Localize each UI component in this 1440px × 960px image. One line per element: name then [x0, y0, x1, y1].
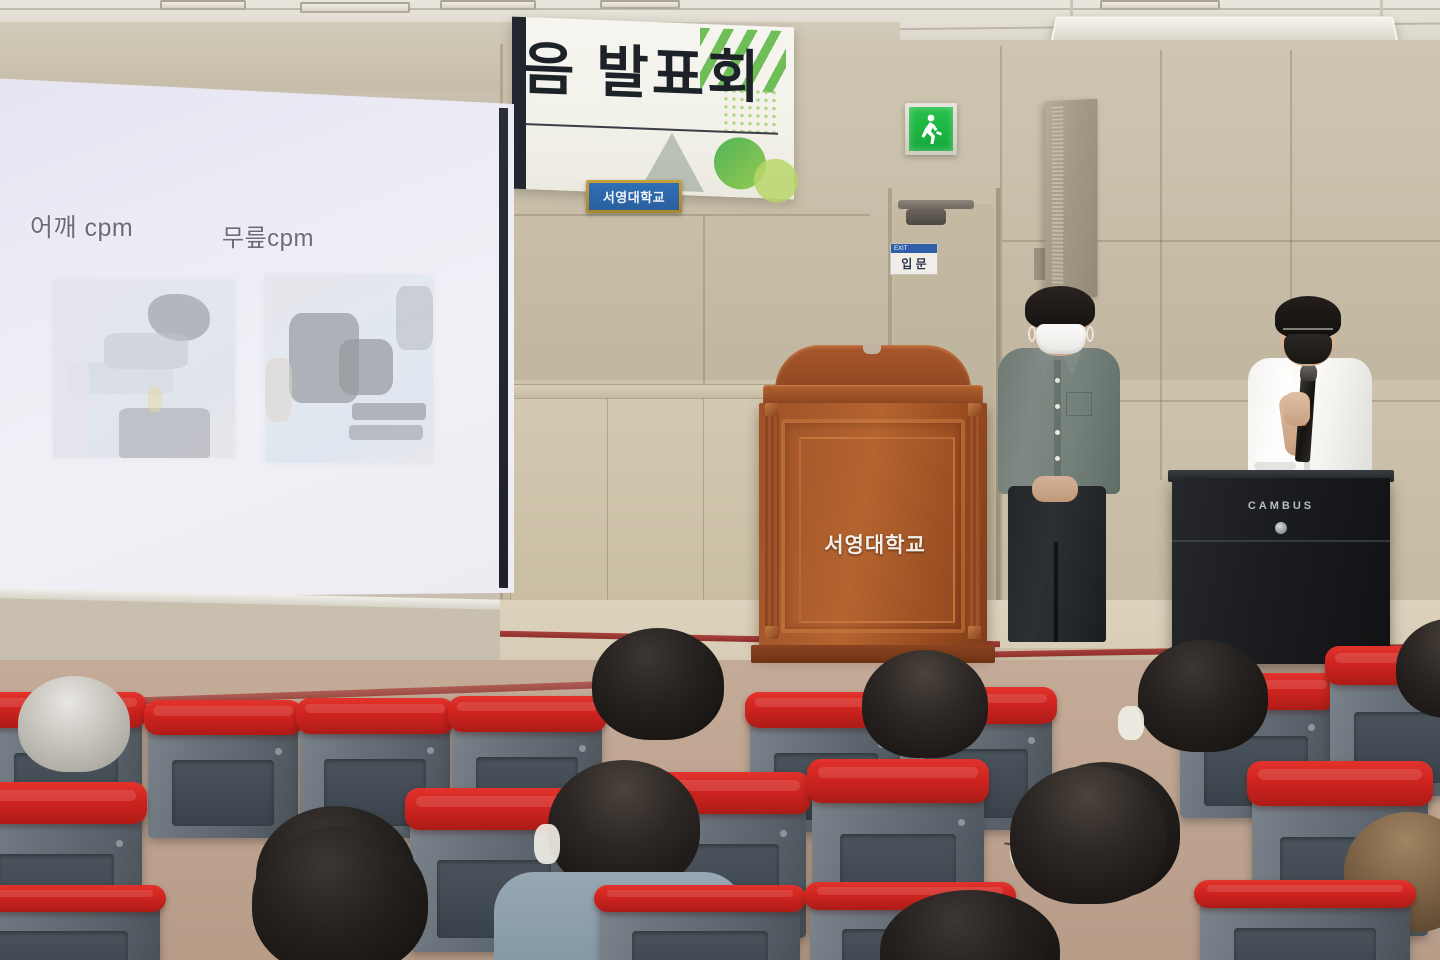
entrance-door-sign: EXIT 입 문 — [890, 243, 938, 275]
podium-rosette — [968, 403, 981, 416]
wall-seam — [703, 215, 705, 385]
wall-university-sign: 서영대학교 — [586, 180, 682, 213]
audience-face-mask — [1118, 706, 1144, 740]
seat-fixing-pin — [780, 830, 787, 837]
seat[interactable] — [148, 720, 298, 838]
seat-headrest — [0, 885, 166, 912]
ceiling-vent — [160, 0, 246, 10]
podium-rosette — [765, 403, 778, 416]
seat-fixing-pin — [579, 745, 586, 752]
speaker-grille — [1052, 106, 1063, 289]
av-rack-door-seam — [1172, 540, 1390, 542]
audience-head — [862, 650, 988, 758]
presenter-left-leg-split — [1054, 542, 1058, 642]
seat[interactable] — [1200, 896, 1410, 960]
presenter-left-shirt-button — [1055, 404, 1060, 409]
entrance-sign-bottom-label: 입 문 — [891, 253, 937, 274]
audience-head — [18, 676, 130, 772]
wall-university-sign-text: 서영대학교 — [603, 187, 665, 206]
seat-headrest — [144, 700, 303, 735]
podium-pilaster-left — [765, 415, 779, 637]
slide-image-knee-cpm — [265, 275, 433, 463]
av-rack-brand-label: CAMBUS — [1172, 500, 1390, 512]
wainscot-slat — [703, 399, 704, 622]
seat-headrest — [1194, 880, 1417, 908]
seat-fixing-pin — [1308, 724, 1315, 731]
presenter-left-mask-earloop — [1086, 326, 1094, 342]
presenter-left-face-mask — [1036, 324, 1086, 354]
presenter-left-shirt-button — [1055, 456, 1060, 461]
slide-heading-right: 무릎cpm — [222, 218, 314, 253]
emergency-exit-sign — [905, 103, 957, 155]
slide-heading-left: 어깨 cpm — [30, 208, 133, 244]
presenter-left — [994, 286, 1122, 646]
presenter-right-face-mask — [1284, 334, 1332, 364]
projection-screen-surface: 어깨 cpm 무릎cpm — [0, 78, 514, 598]
seat-fixing-pin — [1028, 737, 1035, 744]
seat-back-inset — [632, 931, 768, 960]
ceiling-vent — [600, 0, 680, 9]
exit-sign-face — [909, 107, 953, 151]
panel-hanger-rod — [1070, 0, 1073, 18]
seat-back-inset — [172, 760, 274, 826]
presenter-left-shirt-button — [1055, 430, 1060, 435]
audience-face-mask — [534, 824, 560, 864]
ceiling-vent — [440, 0, 536, 10]
audience-head — [1010, 766, 1166, 904]
seat-fixing-pin — [275, 748, 282, 755]
podium-top-notch — [863, 345, 881, 354]
projection-screen-side-border — [499, 108, 508, 588]
door-closer — [898, 200, 974, 209]
banner-green-circle-small — [754, 158, 798, 204]
audience-head — [1138, 640, 1268, 752]
seat-headrest — [1247, 761, 1434, 806]
podium-raised-panel — [781, 419, 965, 633]
seat[interactable] — [600, 900, 800, 960]
running-person-exit-icon — [918, 113, 944, 145]
presenter-right-hand — [1284, 392, 1310, 426]
seat-fixing-pin — [116, 840, 123, 847]
seat-headrest — [594, 885, 806, 912]
presenter-left-mask-earloop — [1028, 326, 1036, 342]
podium-rosette — [765, 626, 778, 639]
seat-fixing-pin — [427, 747, 434, 754]
projection-screen: 어깨 cpm 무릎cpm — [0, 78, 514, 598]
seat-back-inset — [0, 931, 128, 960]
wainscot-slat — [607, 399, 608, 622]
seat-headrest — [0, 782, 147, 824]
banner-title-text: 음 발표회 — [522, 41, 782, 108]
auditorium-photo-scene: EXIT 입 문 음 발표회 서영대학교 어깨 cpm 무릎cpm — [0, 0, 1440, 960]
presenter-right-sleeve-cuff — [1254, 462, 1296, 470]
door-closer-arm — [906, 209, 946, 225]
seat-headrest — [296, 698, 455, 734]
seat-headrest — [448, 696, 607, 732]
entrance-sign-top-label: EXIT — [891, 244, 937, 253]
podium-front-body: 서영대학교 — [759, 403, 987, 653]
lectern-podium: 서영대학교 — [757, 345, 989, 665]
av-equipment-rack: CAMBUS — [1172, 478, 1390, 664]
ceiling-vent — [300, 2, 410, 13]
seat-headrest — [807, 759, 989, 803]
presenter-left-clasped-hands — [1032, 476, 1078, 502]
presenter-left-shirt-pocket — [1066, 392, 1092, 416]
slide-image-shoulder-cpm — [53, 280, 235, 458]
podium-rosette — [968, 626, 981, 639]
podium-university-label: 서영대학교 — [759, 529, 991, 559]
wall-seam — [510, 214, 870, 216]
seat-shell — [148, 720, 298, 838]
presenter-left-shirt-button — [1055, 378, 1060, 383]
wall-university-sign-plate: 서영대학교 — [589, 183, 679, 210]
wall-seam — [1160, 50, 1162, 480]
av-rack-lock-icon — [1275, 522, 1287, 534]
podium-pilaster-right — [967, 415, 981, 637]
column-speaker — [1045, 99, 1097, 298]
seat-fixing-pin — [958, 819, 965, 826]
event-banner: 음 발표회 — [512, 17, 794, 200]
seat-back-inset — [1234, 928, 1377, 960]
seat[interactable] — [0, 900, 160, 960]
audience-head — [592, 628, 724, 740]
ceiling-vent — [1100, 0, 1220, 10]
